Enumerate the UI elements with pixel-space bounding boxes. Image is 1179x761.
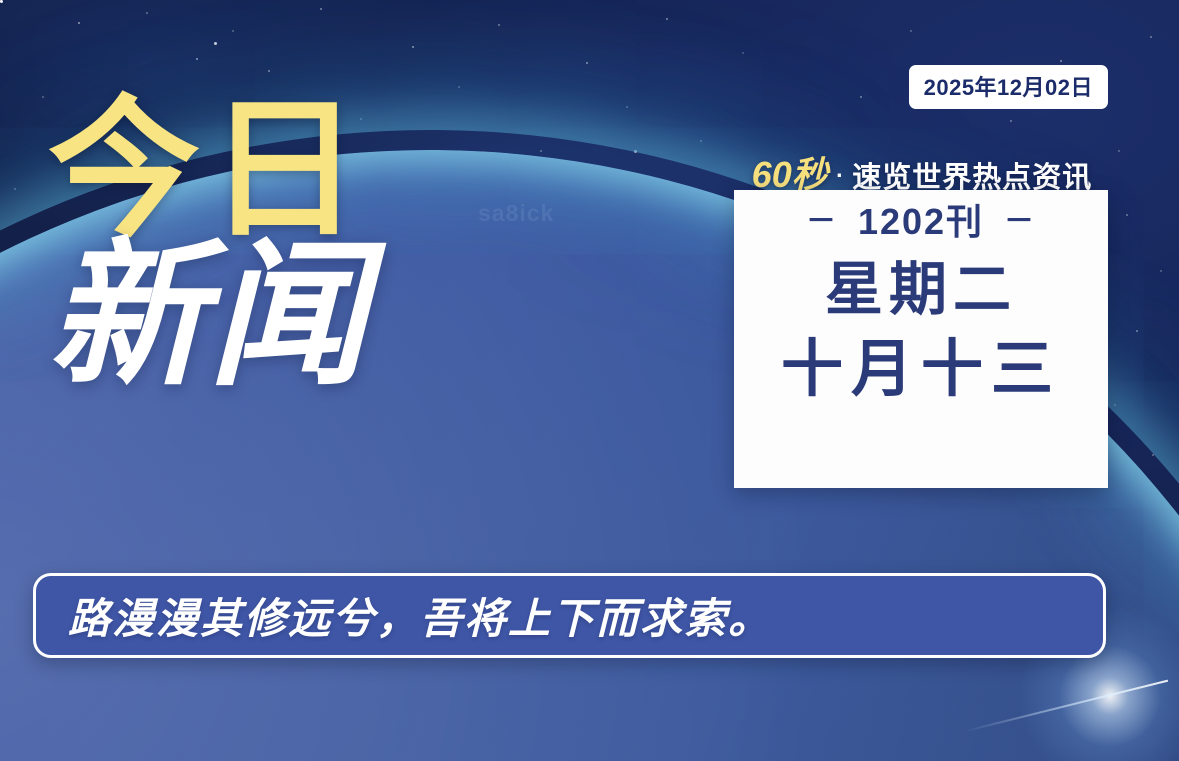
quote-text: 路漫漫其修远兮，吾将上下而求索。: [68, 585, 772, 646]
date-badge: 2025年12月02日: [909, 65, 1108, 109]
issue-dash-right: －: [1004, 207, 1036, 237]
tagline-seconds: 60秒: [752, 154, 828, 195]
tagline-separator: ·: [832, 162, 848, 188]
quote-bar: 路漫漫其修远兮，吾将上下而求索。: [33, 573, 1106, 658]
issue-dash-left: －: [806, 207, 838, 237]
news-poster: sa8ick 今日 新闻 2025年12月02日 60秒 · 速览世界热点资讯 …: [0, 0, 1179, 761]
issue-number: 1202刊: [858, 204, 984, 240]
lunar-date-label: 十月十三: [781, 337, 1061, 402]
poster-title: 今日 新闻: [48, 96, 468, 394]
weekday-label: 星期二: [825, 260, 1017, 321]
issue-row: － 1202刊 －: [806, 204, 1036, 240]
page-title-bottom: 新闻: [48, 239, 468, 394]
page-title-top: 今日: [48, 96, 468, 245]
date-card: － 1202刊 － 星期二 十月十三: [734, 190, 1108, 488]
